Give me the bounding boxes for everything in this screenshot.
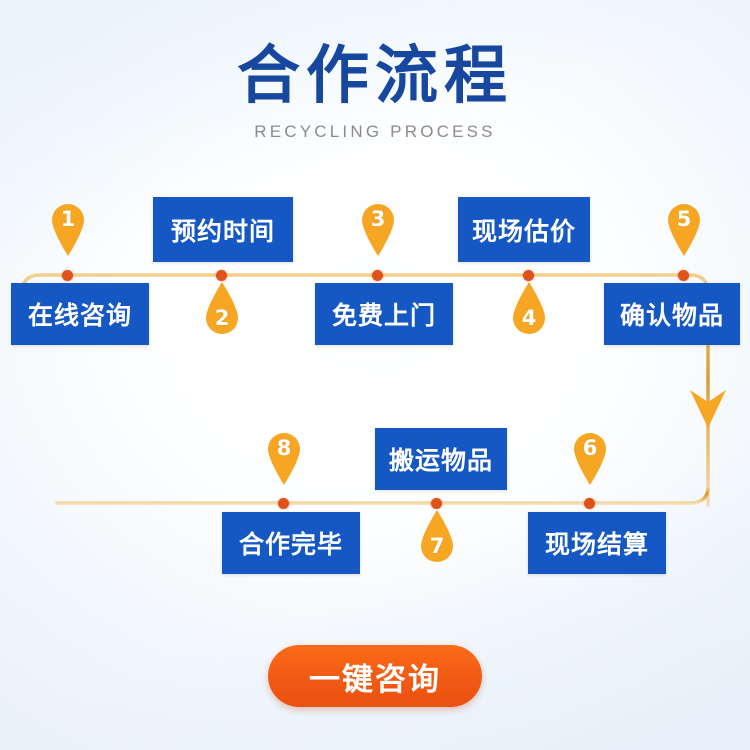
step-dot-4 — [523, 270, 534, 281]
step-label-7: 搬运物品 — [389, 441, 493, 477]
step-number-8: 8 — [264, 436, 304, 460]
step-box-8[interactable]: 合作完毕 — [222, 512, 360, 574]
step-marker-8: 8 — [264, 430, 304, 486]
header: 合作流程 RECYCLING PROCESS — [0, 44, 750, 142]
step-label-6: 现场结算 — [545, 525, 649, 561]
step-dot-8 — [278, 498, 289, 509]
step-label-8: 合作完毕 — [239, 525, 343, 561]
step-label-4: 现场估价 — [472, 212, 576, 248]
cta-label: 一键咨询 — [309, 654, 441, 699]
step-box-3[interactable]: 免费上门 — [315, 283, 453, 345]
step-box-7[interactable]: 搬运物品 — [375, 428, 507, 490]
page-subtitle: RECYCLING PROCESS — [0, 122, 750, 142]
step-number-7: 7 — [417, 534, 457, 558]
step-box-4[interactable]: 现场估价 — [458, 197, 590, 262]
step-label-2: 预约时间 — [171, 212, 275, 248]
step-number-1: 1 — [48, 207, 88, 231]
step-marker-4: 4 — [509, 281, 549, 337]
step-box-2[interactable]: 预约时间 — [153, 197, 293, 262]
step-marker-3: 3 — [358, 201, 398, 257]
step-dot-6 — [584, 498, 595, 509]
step-dot-3 — [372, 270, 383, 281]
one-click-consult-button[interactable]: 一键咨询 — [268, 645, 482, 707]
step-label-3: 免费上门 — [332, 296, 436, 332]
step-box-6[interactable]: 现场结算 — [528, 512, 666, 574]
step-dot-5 — [678, 270, 689, 281]
step-number-2: 2 — [202, 306, 242, 330]
step-box-1[interactable]: 在线咨询 — [11, 283, 149, 345]
page-title: 合作流程 — [0, 44, 750, 107]
step-label-5: 确认物品 — [620, 296, 724, 332]
step-box-5[interactable]: 确认物品 — [604, 283, 740, 345]
step-marker-1: 1 — [48, 201, 88, 257]
step-label-1: 在线咨询 — [28, 296, 132, 332]
step-dot-7 — [431, 498, 442, 509]
step-marker-6: 6 — [570, 430, 610, 486]
step-number-4: 4 — [509, 306, 549, 330]
step-number-5: 5 — [664, 207, 704, 231]
step-number-6: 6 — [570, 436, 610, 460]
step-marker-2: 2 — [202, 281, 242, 337]
step-dot-2 — [216, 270, 227, 281]
step-marker-7: 7 — [417, 509, 457, 565]
infographic-canvas: 合作流程 RECYCLING PROCESS 在线咨询 1 预约时间 — [0, 0, 750, 750]
step-number-3: 3 — [358, 207, 398, 231]
step-marker-5: 5 — [664, 201, 704, 257]
step-dot-1 — [62, 270, 73, 281]
